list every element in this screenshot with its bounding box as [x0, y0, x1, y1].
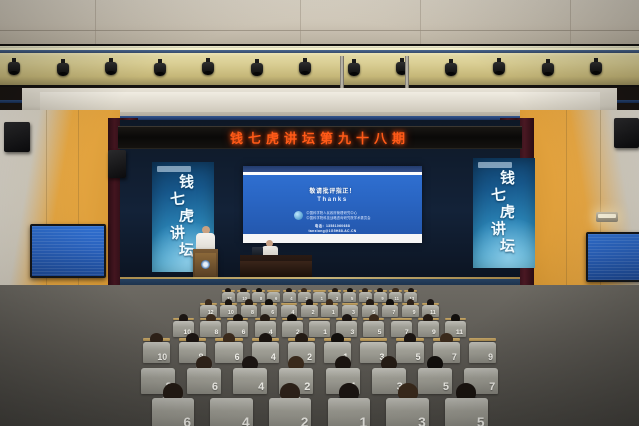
seat-sheen — [210, 398, 253, 411]
banner-char: 坛 — [500, 238, 516, 256]
seat-number: 1 — [332, 310, 335, 316]
seat-number: 2 — [307, 352, 312, 362]
seat-sheen — [328, 292, 341, 296]
seat[interactable]: 10 — [143, 342, 170, 363]
seat[interactable]: 8 — [200, 321, 221, 337]
seat[interactable]: 9 — [402, 305, 418, 317]
led-banner: 钱七虎讲坛第九十八期 — [118, 126, 522, 149]
seat-number: 1 — [323, 329, 327, 336]
stage-spotlight-icon — [590, 58, 602, 75]
desk-ledge — [391, 318, 412, 320]
wall-panel-line — [566, 110, 567, 300]
seat-sheen — [301, 305, 317, 310]
seat-sheen — [187, 368, 221, 378]
seat[interactable]: 1 — [309, 321, 330, 337]
stage-spotlight-icon — [445, 59, 457, 76]
seat-number: 7 — [489, 381, 495, 393]
seat-sheen — [328, 398, 371, 411]
seat-sheen — [324, 342, 351, 350]
seat[interactable]: 5 — [396, 342, 423, 363]
seat-number: 2 — [301, 415, 309, 426]
seat[interactable]: 1 — [328, 398, 371, 426]
monitor-scanlines — [32, 226, 104, 276]
seat-sheen — [233, 368, 267, 378]
seat-sheen — [363, 321, 384, 327]
seat-sheen — [336, 321, 357, 327]
seat-number: 10 — [157, 352, 167, 362]
seat[interactable]: 5 — [363, 321, 384, 337]
seat-sheen — [227, 321, 248, 327]
seat-number: 4 — [290, 296, 292, 301]
stage-spotlight-icon — [542, 59, 554, 76]
seat-number: 2 — [312, 310, 315, 316]
wall-speaker-left — [4, 122, 30, 152]
seat-number: 4 — [258, 381, 264, 393]
ceiling-joint — [300, 0, 301, 44]
panel-table — [240, 255, 312, 279]
slide-contact-lines: 电话：13581060688tanxiong@1G5H88.AC.CN — [308, 224, 356, 233]
stage-spotlight-icon — [57, 59, 69, 76]
seat[interactable]: 5 — [445, 398, 488, 426]
vertical-banner-right: 钱七虎讲坛 — [473, 158, 535, 268]
soffit-inner-panel — [40, 92, 600, 112]
seat-number: 5 — [443, 381, 449, 393]
seat-sheen — [143, 342, 170, 350]
seat[interactable]: 4 — [233, 368, 267, 394]
seat-sheen — [321, 305, 337, 310]
seat-sheen — [343, 292, 356, 296]
screen-top-bar — [243, 166, 422, 172]
seat-sheen — [309, 321, 330, 327]
seat-number: 1 — [359, 415, 367, 426]
seat-sheen — [391, 321, 412, 327]
seat-number: 3 — [336, 296, 338, 301]
desk-ledge — [469, 338, 496, 341]
seat-number: 6 — [235, 352, 240, 362]
seat-number: 2 — [304, 381, 310, 393]
seat-sheen — [445, 398, 488, 411]
ceiling-joint — [95, 0, 96, 44]
seat-sheen — [418, 321, 439, 327]
seat[interactable]: 1 — [313, 292, 326, 302]
seat-number: 6 — [183, 415, 191, 426]
seat[interactable]: 9 — [418, 321, 439, 337]
seat-sheen — [464, 368, 498, 378]
seat-sheen — [418, 368, 452, 378]
crest-icon — [201, 260, 210, 269]
seat-sheen — [326, 368, 360, 378]
presentation-slide: 敬请批评指正！ Thanks 中国科学院人民政府管理研究中心中国科学院科技战略咨… — [243, 175, 422, 234]
monitor-left — [30, 224, 106, 278]
truss-rail-top — [0, 44, 639, 46]
ceiling-joint — [420, 0, 421, 44]
slide-title-en: Thanks — [317, 197, 348, 203]
seat-sheen — [252, 292, 265, 296]
seat-sheen — [261, 305, 277, 310]
stage-spotlight-icon — [348, 59, 360, 76]
seat[interactable]: 3 — [386, 398, 429, 426]
seat-number: 8 — [214, 329, 218, 336]
seat-number: 4 — [271, 352, 276, 362]
seat-number: 1 — [321, 296, 323, 301]
stage-spotlight-icon — [493, 58, 505, 75]
seat-sheen — [313, 292, 326, 296]
stage-spotlight-icon — [105, 58, 117, 75]
stage-spotlight-icon — [154, 59, 166, 76]
seat[interactable]: 8 — [241, 305, 257, 317]
stage-spotlight-icon — [8, 58, 20, 75]
banner-calligraphy-right: 钱七虎讲坛 — [473, 170, 535, 255]
banner-char: 七 — [170, 190, 186, 208]
seat-number: 9 — [432, 329, 436, 336]
seat-sheen — [252, 342, 279, 350]
seat[interactable]: 4 — [210, 398, 253, 426]
banner-char: 讲 — [170, 224, 186, 242]
seat-number: 7 — [392, 310, 395, 316]
seat-sheen — [282, 321, 303, 327]
slide-org-lines: 中国科学院人民政府管理研究中心中国科学院科技战略咨询研究院学术委员会 — [306, 211, 370, 219]
banner-logo — [478, 162, 512, 168]
wall-speaker-right — [614, 118, 639, 148]
seat-sheen — [173, 321, 194, 327]
seat-number: 9 — [413, 310, 416, 316]
seat-number: 6 — [242, 329, 246, 336]
seat[interactable]: 5 — [418, 368, 452, 394]
seat-sheen — [255, 321, 276, 327]
seat-number: 8 — [251, 310, 254, 316]
seat-sheen — [200, 321, 221, 327]
monitor-right — [586, 232, 639, 282]
desk-ledge — [360, 338, 387, 341]
banner-char: 讲 — [491, 220, 507, 238]
seat[interactable]: 5 — [343, 292, 356, 302]
stage-spotlight-icon — [251, 59, 263, 76]
slide-org-line: 中国科学院科技战略咨询研究院学术委员会 — [306, 216, 370, 220]
seat-number: 6 — [271, 310, 274, 316]
seat-number: 8 — [260, 296, 262, 301]
seat-sheen — [360, 342, 387, 350]
seat-number: 6 — [212, 381, 218, 393]
seat-sheen — [179, 342, 206, 350]
seat-sheen — [386, 398, 429, 411]
seat-number: 11 — [456, 329, 463, 336]
seat-sheen — [269, 398, 312, 411]
seat-sheen — [445, 321, 466, 327]
seat-number: 3 — [418, 415, 426, 426]
seat-sheen — [288, 342, 315, 350]
seat-sheen — [396, 342, 423, 350]
truss-blue-strip — [0, 50, 639, 53]
auditorium-floor — [0, 285, 639, 426]
seat-sheen — [362, 305, 378, 310]
slide-org-block: 中国科学院人民政府管理研究中心中国科学院科技战略咨询研究院学术委员会 — [294, 211, 370, 220]
seat[interactable]: 9 — [374, 292, 387, 302]
seat-sheen — [433, 342, 460, 350]
monitor-scanlines — [588, 234, 639, 280]
seat-sheen — [267, 292, 280, 296]
slide-title-cn: 敬请批评指正！ — [309, 186, 355, 195]
seat[interactable]: 2 — [301, 305, 317, 317]
ceiling-joint — [570, 0, 571, 44]
seat-sheen — [141, 368, 175, 378]
seat-number: 9 — [381, 296, 383, 301]
seat-sheen — [469, 342, 496, 350]
wall-speaker-center-left — [108, 150, 126, 178]
seat-number: 5 — [477, 415, 485, 426]
seat-sheen — [372, 368, 406, 378]
seat[interactable]: 1 — [321, 305, 337, 317]
auditorium-photo: 钱七虎讲坛第九十八期 钱七虎讲坛 钱七虎讲坛 敬请批评指正！ Thanks 中国… — [0, 0, 639, 426]
organization-logo-icon — [294, 211, 303, 220]
seat[interactable]: 4 — [283, 292, 296, 302]
stage-spotlight-icon — [202, 58, 214, 75]
projection-screen: 敬请批评指正！ Thanks 中国科学院人民政府管理研究中心中国科学院科技战略咨… — [243, 166, 422, 243]
desk-ledge — [309, 318, 330, 320]
seat-sheen — [382, 305, 398, 310]
podium — [193, 249, 218, 279]
seat-number: 5 — [416, 352, 421, 362]
seat[interactable]: 8 — [252, 292, 265, 302]
seat[interactable]: 6 — [187, 368, 221, 394]
stage-spotlight-icon — [299, 58, 311, 75]
seat-sheen — [342, 305, 358, 310]
seat[interactable]: 9 — [469, 342, 496, 363]
seat-number: 7 — [452, 352, 457, 362]
slide-contact-line: tanxiong@1G5H88.AC.CN — [308, 229, 356, 234]
seat-sheen — [281, 305, 297, 310]
led-banner-text: 钱七虎讲坛第九十八期 — [230, 128, 410, 147]
wall-sconce — [596, 212, 618, 222]
seat[interactable]: 6 — [152, 398, 195, 426]
seat-number: 9 — [488, 352, 493, 362]
seat-sheen — [279, 368, 313, 378]
seat-sheen — [152, 398, 195, 411]
seat[interactable]: 2 — [269, 398, 312, 426]
seat-number: 11 — [395, 296, 399, 301]
seat-sheen — [241, 305, 257, 310]
seat-number: 3 — [350, 329, 354, 336]
banner-char: 七 — [491, 186, 507, 204]
seat-number: 6 — [275, 296, 277, 301]
truss-rail-bottom — [0, 85, 639, 87]
seat[interactable]: 6 — [215, 342, 242, 363]
seat-number: 5 — [351, 296, 353, 301]
seat-number: 3 — [352, 310, 355, 316]
seat[interactable]: 7 — [382, 305, 398, 317]
banner-logo — [157, 166, 191, 172]
seat-sheen — [402, 305, 418, 310]
seat-sheen — [215, 342, 242, 350]
seat-number: 5 — [378, 329, 382, 336]
seat-number: 4 — [242, 415, 250, 426]
